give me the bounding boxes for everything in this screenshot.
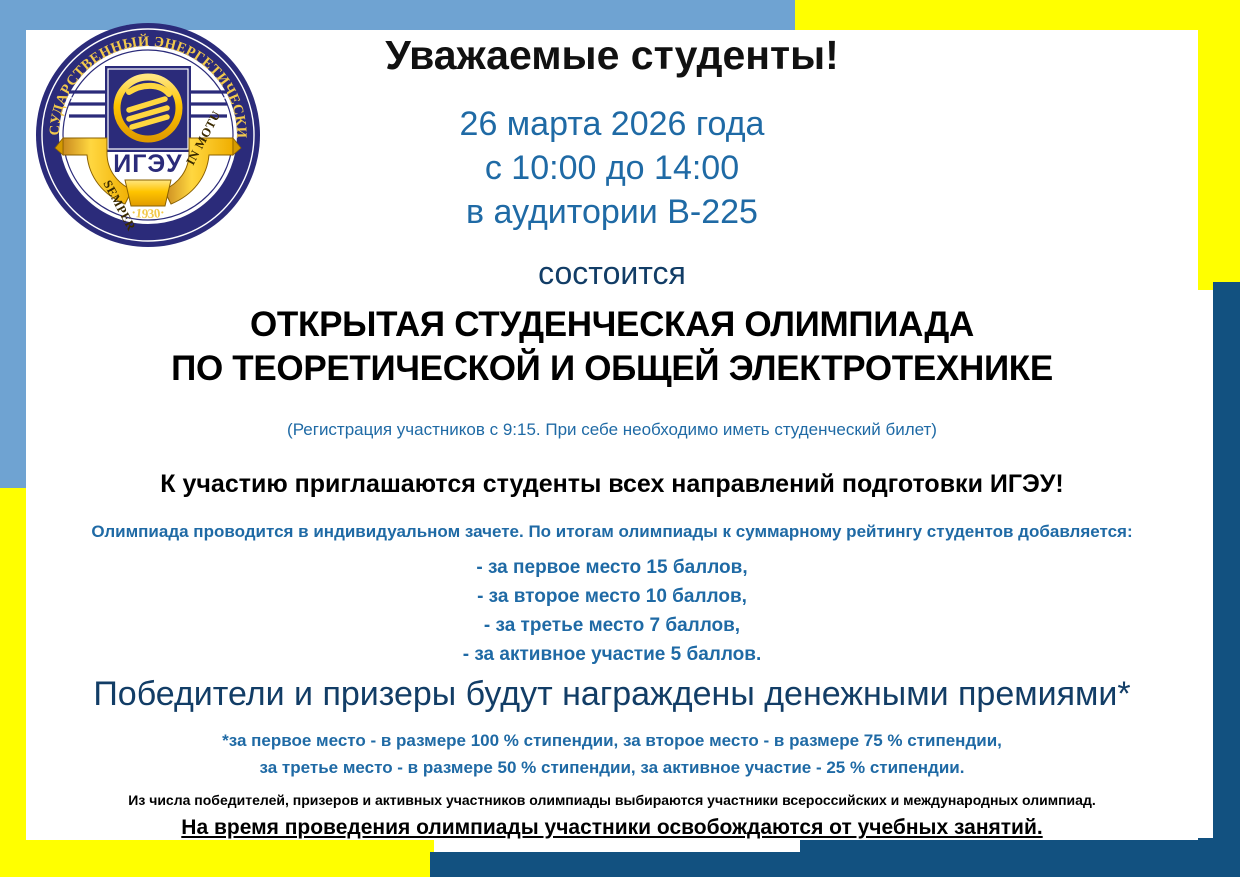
prize-headline: Победители и призеры будут награждены де… (26, 675, 1198, 714)
event-date: 26 марта 2026 года (26, 102, 1198, 146)
poster-root: ИВАНОВСКИЙ ГОСУДАРСТВЕННЫЙ ЭНЕРГЕТИЧЕСКИ… (0, 0, 1240, 877)
page-title: Уважаемые студенты! (26, 32, 1198, 79)
prize-note-line-2: за третье место - в размере 50 % стипенд… (26, 754, 1198, 781)
frame-band-right-yellow (1196, 0, 1240, 290)
poster-content: Уважаемые студенты! 26 марта 2026 года с… (26, 30, 1198, 840)
event-title-line-2: ПО ТЕОРЕТИЧЕСКОЙ И ОБЩЕЙ ЭЛЕКТРОТЕХНИКЕ (26, 347, 1198, 391)
scoring-intro: Олимпиада проводится в индивидуальном за… (26, 522, 1198, 542)
frame-band-bottom-dark-blue-lower (430, 852, 1240, 877)
frame-band-right-dark-blue (1213, 282, 1240, 877)
exemption-note: На время проведения олимпиады участники … (26, 816, 1198, 840)
prize-note-line-1: *за первое место - в размере 100 % стипе… (26, 727, 1198, 754)
list-item: - за третье место 7 баллов, (26, 611, 1198, 640)
list-item: - за первое место 15 баллов, (26, 553, 1198, 582)
invitation-line: К участию приглашаются студенты всех нап… (26, 470, 1198, 499)
list-item: - за второе место 10 баллов, (26, 582, 1198, 611)
prize-note: *за первое место - в размере 100 % стипе… (26, 727, 1198, 781)
event-time: с 10:00 до 14:00 (26, 146, 1198, 190)
will-take-place-label: состоится (26, 255, 1198, 292)
event-when-block: 26 марта 2026 года с 10:00 до 14:00 в ау… (26, 102, 1198, 234)
list-item: - за активное участие 5 баллов. (26, 640, 1198, 669)
event-title-line-1: ОТКРЫТАЯ СТУДЕНЧЕСКАЯ ОЛИМПИАДА (26, 303, 1198, 347)
selection-note: Из числа победителей, призеров и активны… (26, 792, 1198, 808)
points-list: - за первое место 15 баллов, - за второе… (26, 553, 1198, 669)
event-room: в аудитории В-225 (26, 190, 1198, 234)
registration-note: (Регистрация участников с 9:15. При себе… (26, 420, 1198, 440)
event-title: ОТКРЫТАЯ СТУДЕНЧЕСКАЯ ОЛИМПИАДА ПО ТЕОРЕ… (26, 303, 1198, 391)
exemption-note-text: На время проведения олимпиады участники … (181, 816, 1042, 839)
frame-band-left-blue (0, 0, 26, 520)
frame-band-top-yellow-upper (915, 0, 1240, 14)
